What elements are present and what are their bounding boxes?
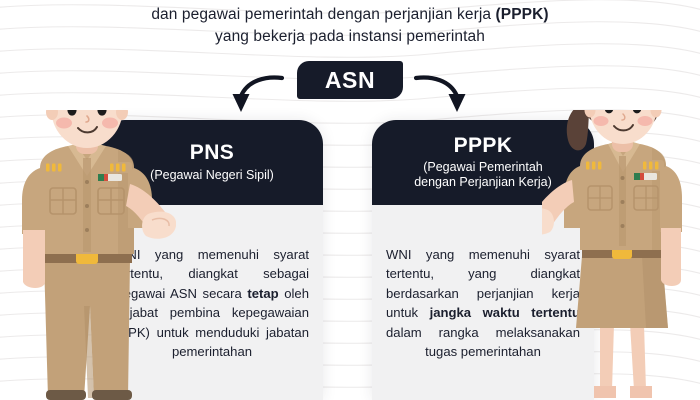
female-civil-servant-illustration (542, 110, 700, 400)
curved-arrow-down-left-icon (222, 74, 284, 116)
card-pns-body-bold: tetap (247, 286, 278, 301)
curved-arrow-down-right-icon (414, 74, 476, 116)
headline-line1-pre: dan pegawai pemerintah dengan perjanjian… (151, 6, 495, 23)
card-pppk-title: PPPK (454, 135, 513, 158)
asn-badge: ASN (297, 61, 403, 99)
headline-line2: yang bekerja pada instansi pemerintah (0, 26, 700, 48)
asn-badge-label: ASN (325, 67, 375, 94)
card-pppk-subtitle-line2: dengan Perjanjian Kerja) (414, 175, 552, 189)
infographic-canvas: dan pegawai pemerintah dengan perjanjian… (0, 0, 700, 400)
headline-text: dan pegawai pemerintah dengan perjanjian… (0, 4, 700, 48)
male-civil-servant-illustration (0, 110, 176, 400)
card-pppk-subtitle-line1: (Pegawai Pemerintah (423, 160, 543, 174)
card-pppk-subtitle: (Pegawai Pemerintahdengan Perjanjian Ker… (414, 160, 552, 190)
card-pns-title: PNS (190, 142, 234, 165)
headline-line1-bold: (PPPK) (496, 6, 549, 23)
